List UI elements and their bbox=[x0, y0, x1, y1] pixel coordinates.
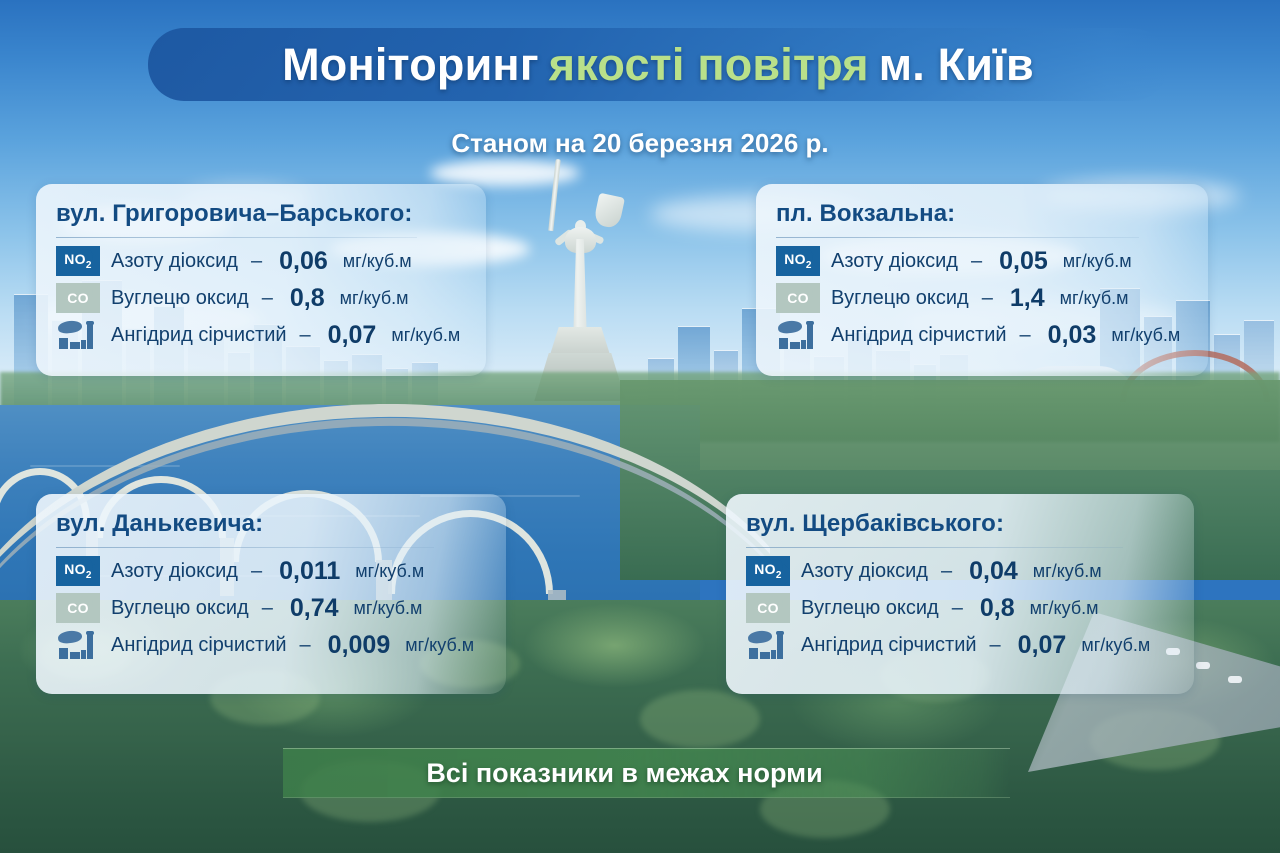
dash: – bbox=[1020, 324, 1031, 347]
reading-label: Вуглецю оксид bbox=[111, 287, 249, 310]
reading-row-co: CO Вуглецю оксид – 1,4 мг/куб.м bbox=[776, 283, 1188, 313]
title-highlight: якості повітря bbox=[549, 39, 869, 91]
reading-label: Вуглецю оксид bbox=[801, 597, 939, 620]
reading-label: Ангідрид сірчистий bbox=[831, 324, 1007, 347]
station-name: пл. Вокзальна: bbox=[776, 200, 1188, 228]
reading-row-so2: Ангідрид сірчистий – 0,07 мг/куб.м bbox=[746, 630, 1174, 660]
co-cloud-icon: CO bbox=[56, 283, 100, 313]
motherland-monument bbox=[520, 186, 640, 401]
station-name: вул. Григоровича–Барського: bbox=[56, 200, 466, 228]
factory-icon bbox=[56, 320, 100, 350]
reading-value: 0,03 bbox=[1048, 321, 1097, 350]
reading-row-no2: NO2 Азоту діоксид – 0,05 мг/куб.м bbox=[776, 246, 1188, 276]
reading-value: 0,009 bbox=[328, 631, 391, 660]
dash: – bbox=[941, 560, 952, 583]
reading-value: 0,07 bbox=[328, 321, 377, 350]
divider bbox=[776, 237, 1139, 238]
reading-label: Вуглецю оксид bbox=[831, 287, 969, 310]
dash: – bbox=[300, 634, 311, 657]
reading-label: Азоту діоксид bbox=[801, 560, 928, 583]
divider bbox=[56, 237, 417, 238]
co-cloud-icon: CO bbox=[56, 593, 100, 623]
reading-row-so2: Ангідрид сірчистий – 0,009 мг/куб.м bbox=[56, 630, 486, 660]
reading-row-co: CO Вуглецю оксид – 0,8 мг/куб.м bbox=[746, 593, 1174, 623]
dash: – bbox=[982, 287, 993, 310]
no2-cloud-icon: NO2 bbox=[746, 556, 790, 586]
reading-value: 0,74 bbox=[290, 594, 339, 623]
vehicle bbox=[1228, 676, 1242, 683]
no2-cloud-icon: NO2 bbox=[56, 246, 100, 276]
reading-value: 0,07 bbox=[1018, 631, 1067, 660]
reading-unit: мг/куб.м bbox=[405, 635, 474, 656]
reading-label: Азоту діоксид bbox=[831, 250, 958, 273]
dash: – bbox=[262, 287, 273, 310]
title-part-1: Моніторинг bbox=[282, 39, 539, 91]
reading-value: 0,05 bbox=[999, 247, 1048, 276]
reading-row-no2: NO2 Азоту діоксид – 0,011 мг/куб.м bbox=[56, 556, 486, 586]
title-part-2: м. Київ bbox=[879, 39, 1034, 91]
reading-value: 1,4 bbox=[1010, 284, 1045, 313]
readings-list: NO2 Азоту діоксид – 0,011 мг/куб.м CO Ву… bbox=[56, 556, 486, 660]
reading-row-co: CO Вуглецю оксид – 0,74 мг/куб.м bbox=[56, 593, 486, 623]
reading-unit: мг/куб.м bbox=[355, 561, 424, 582]
reading-value: 0,011 bbox=[279, 557, 340, 586]
reading-row-no2: NO2 Азоту діоксид – 0,06 мг/куб.м bbox=[56, 246, 466, 276]
subtitle-date: Станом на 20 березня 2026 р. bbox=[0, 128, 1280, 159]
dash: – bbox=[251, 560, 262, 583]
reading-row-no2: NO2 Азоту діоксид – 0,04 мг/куб.м bbox=[746, 556, 1174, 586]
reading-value: 0,8 bbox=[290, 284, 325, 313]
factory-icon bbox=[776, 320, 820, 350]
reading-value: 0,04 bbox=[969, 557, 1018, 586]
reading-label: Ангідрид сірчистий bbox=[111, 634, 287, 657]
dash: – bbox=[990, 634, 1001, 657]
dash: – bbox=[300, 324, 311, 347]
divider bbox=[746, 547, 1123, 548]
dash: – bbox=[952, 597, 963, 620]
reading-label: Азоту діоксид bbox=[111, 250, 238, 273]
status-banner: Всі показники в межах норми bbox=[283, 748, 1010, 798]
dash: – bbox=[971, 250, 982, 273]
reading-row-so2: Ангідрид сірчистий – 0,03 мг/куб.м bbox=[776, 320, 1188, 350]
factory-icon bbox=[56, 630, 100, 660]
readings-list: NO2 Азоту діоксид – 0,04 мг/куб.м CO Вуг… bbox=[746, 556, 1174, 660]
reading-unit: мг/куб.м bbox=[1033, 561, 1102, 582]
station-name: вул. Данькевича: bbox=[56, 510, 486, 538]
reading-label: Ангідрид сірчистий bbox=[801, 634, 977, 657]
readings-list: NO2 Азоту діоксид – 0,06 мг/куб.м CO Вуг… bbox=[56, 246, 466, 350]
station-card-vokzalna: пл. Вокзальна: NO2 Азоту діоксид – 0,05 … bbox=[756, 184, 1208, 376]
reading-unit: мг/куб.м bbox=[1111, 325, 1180, 346]
readings-list: NO2 Азоту діоксид – 0,05 мг/куб.м CO Вуг… bbox=[776, 246, 1188, 350]
dash: – bbox=[262, 597, 273, 620]
co-cloud-icon: CO bbox=[776, 283, 820, 313]
no2-cloud-icon: NO2 bbox=[56, 556, 100, 586]
station-card-dankevycha: вул. Данькевича: NO2 Азоту діоксид – 0,0… bbox=[36, 494, 506, 694]
title-banner: Моніторинг якості повітря м. Київ bbox=[148, 28, 1168, 101]
divider bbox=[56, 547, 434, 548]
reading-unit: мг/куб.м bbox=[391, 325, 460, 346]
reading-unit: мг/куб.м bbox=[340, 288, 409, 309]
reading-value: 0,8 bbox=[980, 594, 1015, 623]
reading-unit: мг/куб.м bbox=[1060, 288, 1129, 309]
no2-cloud-icon: NO2 bbox=[776, 246, 820, 276]
status-message: Всі показники в межах норми bbox=[426, 758, 822, 789]
reading-row-so2: Ангідрид сірчистий – 0,07 мг/куб.м bbox=[56, 320, 466, 350]
reading-label: Азоту діоксид bbox=[111, 560, 238, 583]
reading-unit: мг/куб.м bbox=[1081, 635, 1150, 656]
station-card-shcherbakivskoho: вул. Щербаківського: NO2 Азоту діоксид –… bbox=[726, 494, 1194, 694]
co-cloud-icon: CO bbox=[746, 593, 790, 623]
reading-unit: мг/куб.м bbox=[1030, 598, 1099, 619]
station-name: вул. Щербаківського: bbox=[746, 510, 1174, 538]
vehicle bbox=[1196, 662, 1210, 669]
page-title: Моніторинг якості повітря м. Київ bbox=[148, 28, 1168, 101]
reading-label: Вуглецю оксид bbox=[111, 597, 249, 620]
reading-value: 0,06 bbox=[279, 247, 328, 276]
reading-unit: мг/куб.м bbox=[343, 251, 412, 272]
station-card-hryhorovycha-barskoho: вул. Григоровича–Барського: NO2 Азоту ді… bbox=[36, 184, 486, 376]
reading-unit: мг/куб.м bbox=[1063, 251, 1132, 272]
factory-icon bbox=[746, 630, 790, 660]
reading-label: Ангідрид сірчистий bbox=[111, 324, 287, 347]
reading-row-co: CO Вуглецю оксид – 0,8 мг/куб.м bbox=[56, 283, 466, 313]
reading-unit: мг/куб.м bbox=[354, 598, 423, 619]
dash: – bbox=[251, 250, 262, 273]
